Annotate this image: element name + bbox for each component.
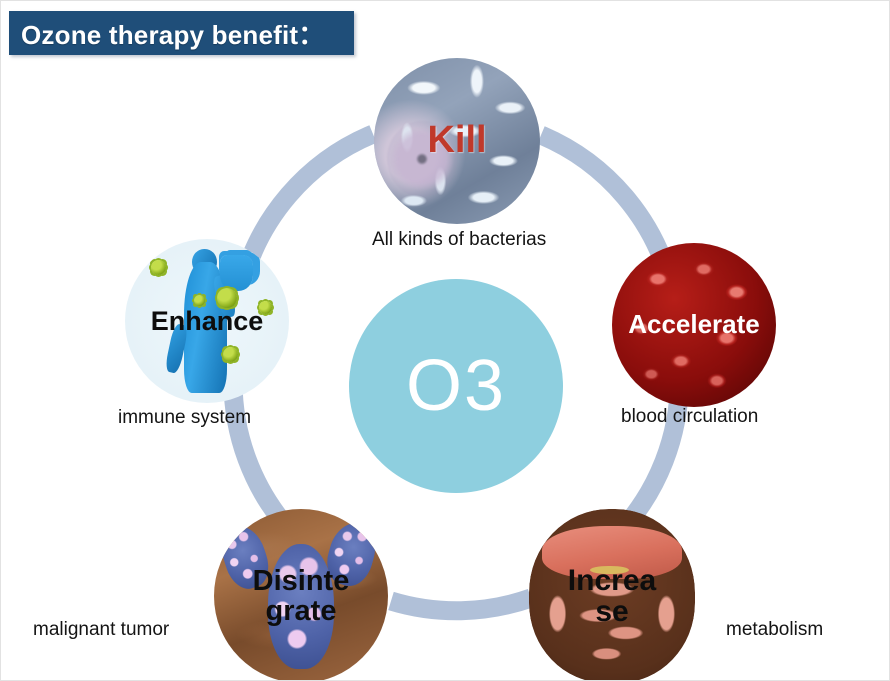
bubble-accelerate[interactable]: Accelerate [612,243,776,407]
center-label: O3 [406,350,506,422]
bubble-disintegrate[interactable]: Disintegrate [214,509,388,681]
node-disintegrate[interactable]: Disintegrate [214,509,388,681]
bubble-caption-kill: Kill [421,121,492,161]
node-kill[interactable]: Kill [374,58,540,224]
virus-icon [151,260,166,275]
ring-arc-increase-to-disintegrate [391,598,531,611]
node-enhance[interactable]: Enhance [125,239,289,403]
virus-icon [223,347,238,362]
figure-hand [220,255,253,291]
node-label-accelerate: blood circulation [621,406,758,428]
bubble-caption-accelerate: Accelerate [622,311,766,338]
bubble-kill[interactable]: Kill [374,58,540,224]
node-increase[interactable]: Increase [529,509,695,681]
node-accelerate[interactable]: Accelerate [612,243,776,407]
node-label-enhance: immune system [118,407,251,429]
center-circle: O3 [349,279,563,493]
bubble-enhance[interactable]: Enhance [125,239,289,403]
bubble-increase[interactable]: Increase [529,509,695,681]
node-label-disintegrate: malignant tumor [33,619,169,641]
bubble-caption-enhance: Enhance [145,307,270,335]
node-label-increase: metabolism [726,619,823,641]
slide-canvas: Ozone therapy benefit： O3 Kill All kinds… [0,0,890,681]
virus-icon [194,295,205,306]
bubble-caption-increase: Increase [556,565,668,628]
bubble-caption-disintegrate: Disintegrate [240,566,362,627]
node-label-kill: All kinds of bacterias [372,229,546,251]
